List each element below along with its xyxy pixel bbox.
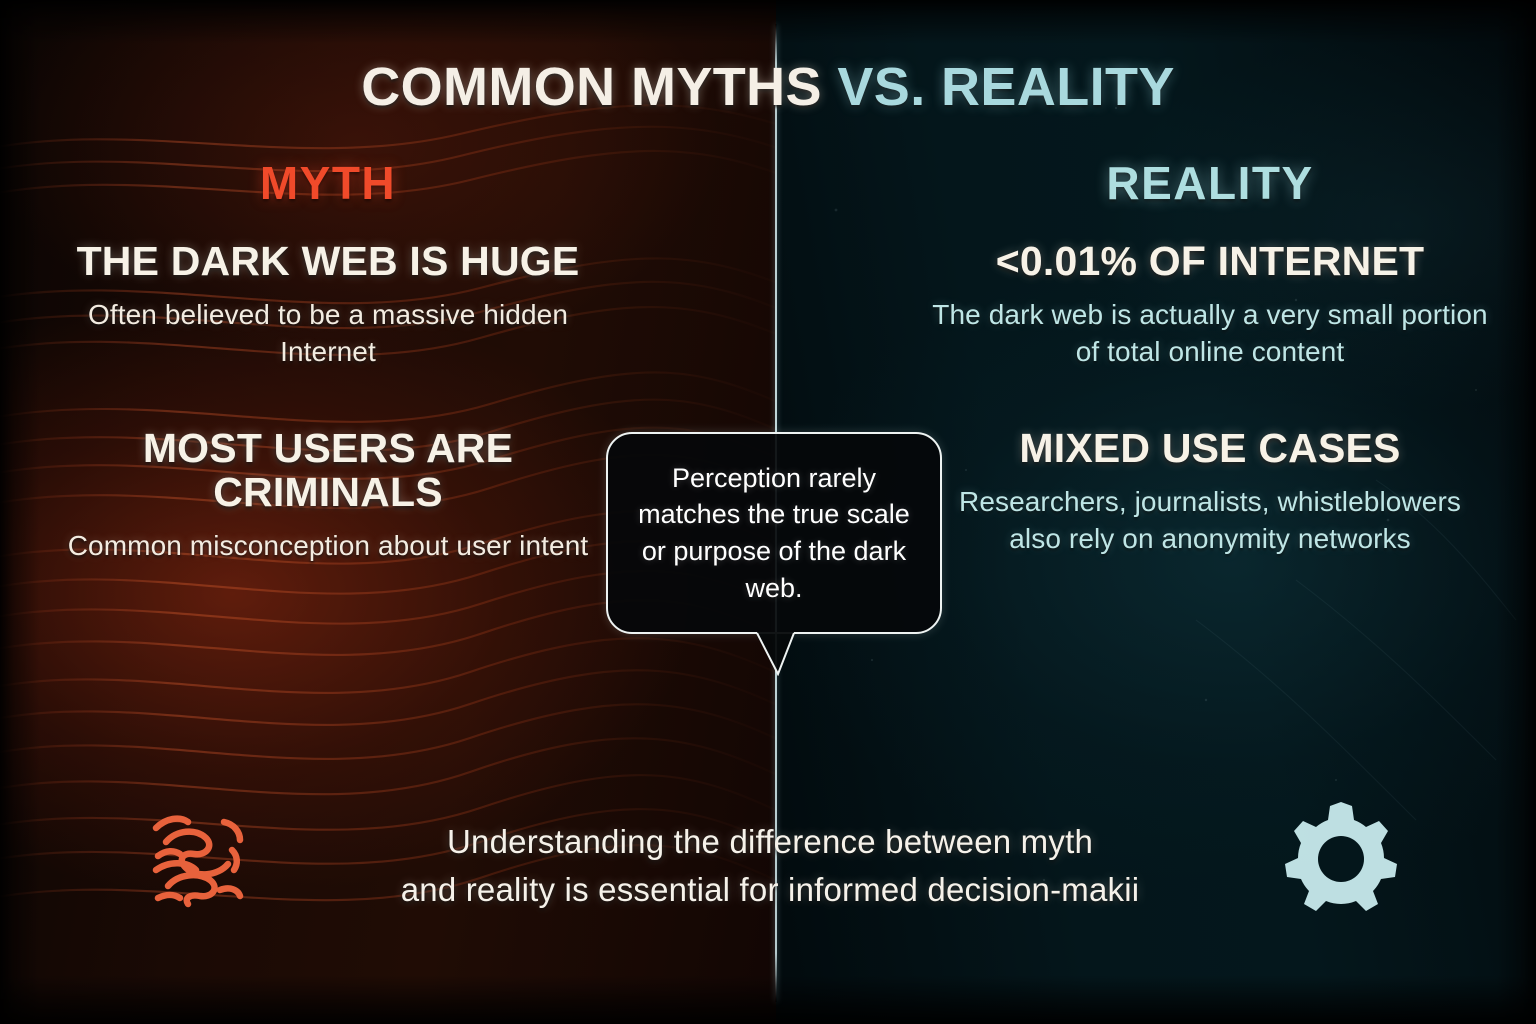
- reality-entry-title: MIXED USE CASES: [930, 427, 1490, 471]
- myth-entry-title: THE DARK WEB IS HUGE: [48, 240, 608, 284]
- reality-entry-title: <0.01% OF INTERNET: [930, 240, 1490, 284]
- title-myths-part: COMMON MYTHS: [361, 57, 837, 117]
- myth-entry-description: Common misconception about user intent: [48, 527, 608, 565]
- callout-bubble-text: Perception rarely matches the true scale…: [608, 460, 940, 607]
- title-reality-part: VS. REALITY: [837, 57, 1174, 117]
- footer-line-2: and reality is essential for informed de…: [300, 866, 1240, 914]
- callout-bubble-tail: [756, 630, 796, 676]
- reality-entry-description: Researchers, journalists, whistleblowers…: [930, 483, 1490, 558]
- footer-summary: Understanding the difference between myt…: [300, 818, 1240, 914]
- page-title: COMMON MYTHS VS. REALITY: [0, 60, 1536, 114]
- myth-column: MYTH THE DARK WEB IS HUGE Often believed…: [48, 160, 608, 620]
- reality-column-heading: REALITY: [930, 160, 1490, 206]
- footer-line-1: Understanding the difference between myt…: [300, 818, 1240, 866]
- slide-canvas: COMMON MYTHS VS. REALITY MYTH THE DARK W…: [0, 0, 1536, 1024]
- callout-bubble: Perception rarely matches the true scale…: [606, 432, 942, 672]
- reality-column: REALITY <0.01% OF INTERNET The dark web …: [930, 160, 1490, 614]
- myth-column-heading: MYTH: [48, 160, 608, 206]
- myth-entry-title: MOST USERS ARE CRIMINALS: [48, 427, 608, 515]
- callout-bubble-body: Perception rarely matches the true scale…: [606, 432, 942, 634]
- myth-entry: THE DARK WEB IS HUGE Often believed to b…: [48, 240, 608, 371]
- reality-entry: MIXED USE CASES Researchers, journalists…: [930, 427, 1490, 558]
- gear-icon: [1278, 798, 1404, 920]
- tangled-threads-icon: [140, 798, 258, 916]
- myth-entry-description: Often believed to be a massive hidden In…: [48, 296, 608, 371]
- reality-entry: <0.01% OF INTERNET The dark web is actua…: [930, 240, 1490, 371]
- myth-entry: MOST USERS ARE CRIMINALS Common misconce…: [48, 427, 608, 564]
- reality-entry-description: The dark web is actually a very small po…: [930, 296, 1490, 371]
